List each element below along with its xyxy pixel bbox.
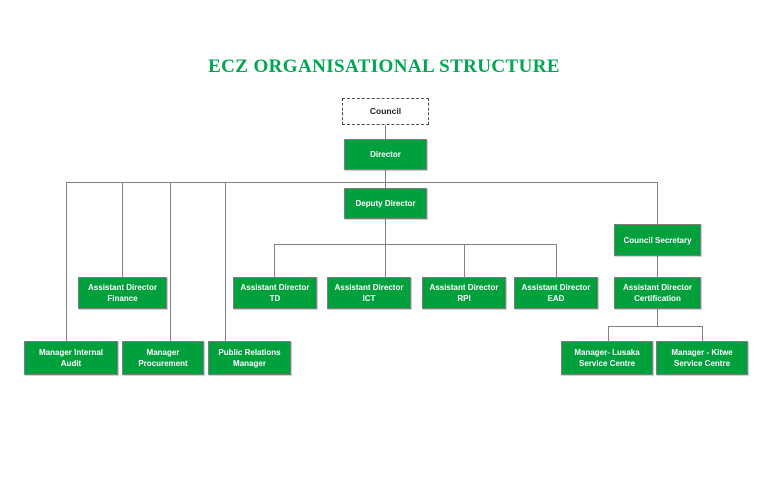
node-ad-td[interactable]: Assistant Director TD (233, 277, 317, 309)
connector-director-deputy (385, 170, 386, 189)
connector-certification-to-bus (657, 309, 658, 326)
connector-top-bus (66, 182, 658, 183)
node-ad-rpi[interactable]: Assistant Director RPI (422, 277, 506, 309)
connector-drop-ad-rpi (464, 244, 465, 277)
connector-drop-ad-finance (122, 182, 123, 277)
node-ad-finance-label: Assistant Director Finance (81, 282, 164, 304)
node-public-relations-manager-label: Public Relations Manager (211, 347, 288, 369)
connector-ad-bus (274, 244, 556, 245)
connector-service-centre-bus (608, 326, 703, 327)
node-manager-kitwe-label: Manager - Kitwe Service Centre (659, 347, 745, 369)
connector-drop-public-relations-manager (225, 182, 226, 341)
connector-council-director (385, 125, 386, 139)
node-ad-certification-label: Assistant Director Certification (617, 282, 698, 304)
node-director-label: Director (347, 149, 424, 160)
node-manager-lusaka[interactable]: Manager- Lusaka Service Centre (561, 341, 653, 375)
node-deputy-director-label: Deputy Director (347, 198, 424, 209)
page-title: ECZ ORGANISATIONAL STRUCTURE (0, 56, 768, 78)
connector-secretary-certification (657, 256, 658, 277)
org-chart-canvas: ECZ ORGANISATIONAL STRUCTURE Council Dir… (0, 0, 768, 479)
node-ad-ead-label: Assistant Director EAD (517, 282, 595, 304)
connector-drop-ad-td (274, 244, 275, 277)
connector-drop-manager-internal-audit (66, 182, 67, 341)
node-manager-lusaka-label: Manager- Lusaka Service Centre (564, 347, 650, 369)
node-ad-rpi-label: Assistant Director RPI (425, 282, 503, 304)
connector-drop-manager-lusaka (608, 326, 609, 341)
node-ad-certification[interactable]: Assistant Director Certification (614, 277, 701, 309)
node-manager-procurement[interactable]: Manager Procurement (122, 341, 204, 375)
node-deputy-director[interactable]: Deputy Director (344, 188, 427, 219)
connector-deputy-to-bus (385, 219, 386, 277)
connector-drop-manager-procurement (170, 182, 171, 341)
node-manager-procurement-label: Manager Procurement (125, 347, 201, 369)
node-manager-kitwe[interactable]: Manager - Kitwe Service Centre (656, 341, 748, 375)
node-council-label: Council (345, 106, 426, 117)
node-director[interactable]: Director (344, 139, 427, 170)
node-manager-internal-audit[interactable]: Manager Internal Audit (24, 341, 118, 375)
node-public-relations-manager[interactable]: Public Relations Manager (208, 341, 291, 375)
node-council[interactable]: Council (342, 98, 429, 125)
node-ad-td-label: Assistant Director TD (236, 282, 314, 304)
node-council-secretary-label: Council Secretary (617, 235, 698, 246)
node-council-secretary[interactable]: Council Secretary (614, 224, 701, 256)
connector-drop-council-secretary (657, 182, 658, 224)
node-ad-ict[interactable]: Assistant Director ICT (327, 277, 411, 309)
node-manager-internal-audit-label: Manager Internal Audit (27, 347, 115, 369)
connector-drop-manager-kitwe (702, 326, 703, 341)
connector-drop-ad-ead (556, 244, 557, 277)
node-ad-ead[interactable]: Assistant Director EAD (514, 277, 598, 309)
node-ad-finance[interactable]: Assistant Director Finance (78, 277, 167, 309)
node-ad-ict-label: Assistant Director ICT (330, 282, 408, 304)
